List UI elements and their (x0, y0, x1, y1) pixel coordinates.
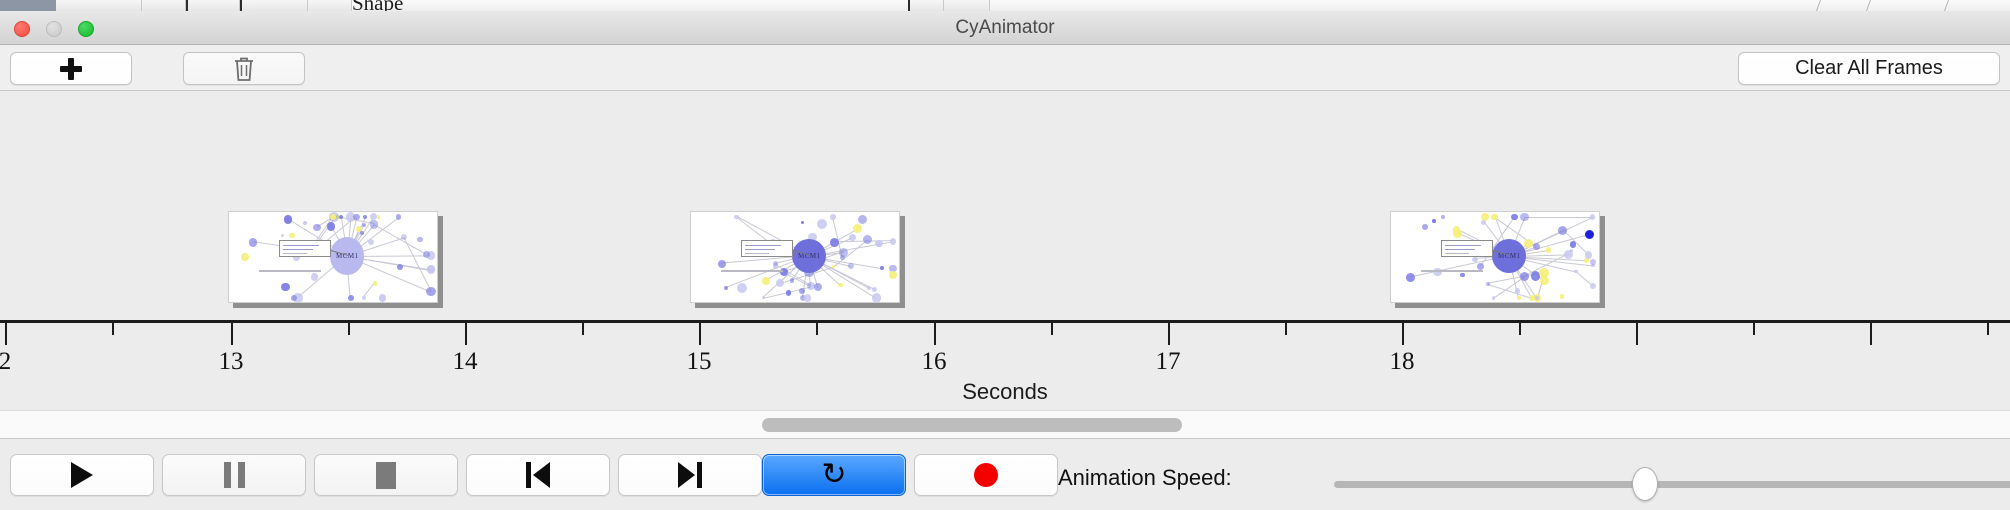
annotation-text-line (283, 245, 319, 246)
graph-node (880, 266, 883, 269)
graph-node (840, 255, 845, 260)
graph-node (281, 234, 285, 238)
trash-icon (232, 55, 256, 83)
graph-node (872, 293, 882, 303)
bg-segment (242, 0, 308, 11)
graph-node (849, 234, 855, 240)
graph-node (1481, 220, 1486, 225)
graph-node (353, 214, 360, 221)
graph-node (362, 223, 366, 227)
axis-minor-tick (816, 323, 818, 335)
bg-segment (142, 0, 186, 11)
bg-segment (944, 0, 990, 11)
axis-tick-label: 13 (219, 348, 244, 376)
graph-node (291, 295, 297, 301)
bg-slash (1866, 0, 1871, 11)
add-frame-button[interactable] (10, 52, 132, 85)
annotation-text-line (745, 253, 769, 254)
axis-major-tick (1168, 323, 1170, 345)
annotation-text-line (745, 249, 775, 250)
graph-node (362, 296, 366, 300)
graph-node (889, 271, 897, 279)
timeline-axis: Seconds 2131415161718 (0, 320, 2010, 410)
timeline-frame-thumbnail[interactable]: MCM1 (228, 211, 443, 307)
annotation-text-line (283, 253, 307, 254)
graph-node (853, 224, 862, 233)
stop-icon (376, 462, 396, 489)
axis-tick-label: 17 (1156, 348, 1181, 376)
toolbar: Clear All Frames (0, 45, 2010, 91)
graph-node (373, 281, 377, 285)
graph-node (241, 253, 249, 261)
graph-node (838, 283, 842, 287)
axis-tick-label: 15 (687, 348, 712, 376)
graph-node (848, 263, 854, 269)
clear-all-frames-button[interactable]: Clear All Frames (1738, 52, 2000, 85)
pause-icon (224, 462, 245, 488)
graph-node (804, 294, 811, 301)
animation-speed-label: Animation Speed: (1058, 465, 1232, 491)
graph-node (1520, 272, 1529, 281)
graph-node (830, 214, 836, 220)
graph-node (817, 219, 827, 229)
timeline-frame-thumbnail[interactable]: MCM1 (690, 211, 905, 307)
network-graph: MCM1 (691, 212, 899, 302)
graph-node (284, 215, 292, 223)
graph-node (762, 277, 770, 285)
graph-node (790, 278, 795, 283)
graph-node (1520, 213, 1529, 222)
graph-node (360, 231, 364, 235)
bg-segment (910, 0, 944, 11)
graph-node (348, 295, 354, 301)
graph-annotation-box (279, 240, 331, 257)
axis-minor-tick (1987, 323, 1989, 335)
graph-node (1585, 251, 1592, 258)
graph-node (801, 221, 804, 224)
play-icon (71, 462, 93, 488)
clear-all-frames-label: Clear All Frames (1795, 57, 1943, 80)
graph-node (807, 282, 815, 290)
graph-node (313, 224, 321, 232)
graph-node (1511, 214, 1518, 221)
plus-icon (60, 58, 82, 80)
axis-major-tick (934, 323, 936, 345)
axis-minor-tick (1519, 323, 1521, 335)
graph-node (1492, 296, 1495, 299)
graph-node (1432, 219, 1436, 223)
graph-annotation-box (1441, 240, 1493, 257)
graph-node (786, 290, 792, 296)
graph-node (1585, 230, 1594, 239)
graph-edge (404, 237, 432, 291)
bg-slash (1944, 0, 1949, 11)
annotation-text-line (283, 249, 313, 250)
graph-node (863, 235, 873, 245)
graph-node (799, 288, 805, 294)
skip-forward-button[interactable] (618, 454, 762, 496)
graph-edge (1524, 217, 1592, 218)
animation-speed-slider-thumb[interactable] (1632, 467, 1658, 501)
axis-tick-label: 18 (1390, 348, 1415, 376)
axis-major-tick (1870, 323, 1872, 345)
play-button[interactable] (10, 454, 154, 496)
loop-button[interactable]: ↻ (762, 454, 906, 496)
graph-node (1558, 226, 1567, 235)
graph-caption-text (721, 270, 783, 272)
graph-node (363, 215, 367, 219)
graph-node (289, 233, 295, 239)
graph-node (1422, 224, 1428, 230)
graph-node (339, 215, 344, 220)
timeline-track[interactable]: MCM1MCM1MCM1 (0, 91, 2010, 320)
loop-icon: ↻ (821, 460, 846, 490)
network-graph-image: MCM1 (228, 211, 438, 303)
graph-node (1560, 294, 1564, 298)
axis-major-tick (5, 323, 7, 345)
axis-major-tick (1636, 323, 1638, 345)
axis-minor-tick (1753, 323, 1755, 335)
axis-tick-label: 16 (922, 348, 947, 376)
graph-node (762, 296, 765, 299)
skip-forward-icon (678, 462, 702, 488)
graph-node (427, 266, 435, 274)
graph-node (1590, 259, 1596, 265)
horizontal-scrollbar-track[interactable] (0, 410, 2010, 438)
stop-button[interactable] (314, 454, 458, 496)
player-control-bar: ↻ Animation Speed: (0, 438, 2010, 510)
graph-node (1517, 296, 1520, 299)
graph-node (379, 294, 386, 301)
graph-node (1406, 273, 1415, 282)
graph-caption-text (259, 270, 321, 272)
axis-minor-tick (582, 323, 584, 335)
record-button[interactable] (914, 454, 1058, 496)
graph-node (1590, 214, 1596, 220)
graph-node (830, 238, 839, 247)
animation-speed-slider-track[interactable] (1334, 481, 2010, 488)
horizontal-scrollbar-thumb[interactable] (762, 418, 1182, 432)
bg-segment (188, 0, 240, 11)
skip-backward-button[interactable] (466, 454, 610, 496)
graph-node (858, 215, 867, 224)
graph-node (832, 265, 835, 268)
graph-node (890, 238, 897, 245)
annotation-text-line (745, 245, 781, 246)
axis-tick-label: 14 (453, 348, 478, 376)
graph-node (1539, 268, 1549, 278)
graph-node (1460, 273, 1464, 277)
graph-node (1472, 257, 1478, 263)
graph-node (718, 260, 726, 268)
network-graph-image: MCM1 (690, 211, 900, 303)
network-graph: MCM1 (1391, 212, 1599, 302)
graph-node (814, 283, 822, 291)
graph-node (396, 214, 401, 219)
graph-node (1590, 283, 1596, 289)
graph-node (773, 261, 778, 266)
graph-node (1453, 226, 1460, 233)
axis-minor-tick (1051, 323, 1053, 335)
graph-node (776, 279, 784, 287)
network-graph-image: MCM1 (1390, 211, 1600, 303)
window-title-bar: CyAnimator (0, 11, 2010, 45)
graph-node (1570, 241, 1577, 248)
pause-button[interactable] (162, 454, 306, 496)
graph-node (370, 220, 378, 228)
axis-title: Seconds (0, 379, 2010, 405)
graph-node (1546, 247, 1551, 252)
bg-segment (308, 0, 352, 11)
graph-node (1574, 270, 1578, 274)
graph-caption-text (1421, 270, 1483, 272)
bg-slash (1816, 0, 1821, 11)
graph-node (875, 240, 882, 247)
axis-minor-tick (348, 323, 350, 335)
axis-major-tick (1402, 323, 1404, 345)
annotation-text-line (1445, 249, 1475, 250)
axis-minor-tick (1285, 323, 1287, 335)
delete-frame-button[interactable] (183, 52, 305, 85)
graph-node (377, 215, 380, 218)
graph-node (249, 238, 258, 247)
graph-node (1441, 215, 1444, 218)
graph-node (417, 237, 423, 243)
graph-node (867, 286, 871, 290)
graph-annotation-box (741, 240, 793, 257)
network-graph: MCM1 (229, 212, 437, 302)
window-title: CyAnimator (0, 11, 2010, 45)
graph-node (1533, 243, 1540, 250)
graph-node (311, 273, 319, 281)
graph-node (872, 287, 877, 292)
bg-segment (56, 0, 142, 11)
bg-dark-segment (0, 0, 56, 11)
bg-window-shape-label: Shape (352, 0, 403, 11)
graph-node (281, 283, 289, 291)
background-window-strip: Shape (0, 0, 2010, 11)
graph-node (368, 239, 374, 245)
graph-node (1515, 288, 1521, 294)
graph-node (426, 287, 436, 297)
axis-major-tick (231, 323, 233, 345)
axis-minor-tick (112, 323, 114, 335)
annotation-text-line (1445, 245, 1481, 246)
timeline-frame-thumbnail[interactable]: MCM1 (1390, 211, 1605, 307)
axis-baseline (0, 320, 2010, 323)
skip-backward-icon (526, 462, 550, 488)
graph-node (737, 283, 747, 293)
annotation-text-line (1445, 253, 1469, 254)
graph-node (303, 221, 307, 225)
graph-node (327, 222, 335, 230)
axis-tick-label: 2 (0, 348, 11, 376)
graph-node (1570, 249, 1574, 253)
record-icon (974, 463, 998, 487)
graph-node (724, 286, 728, 290)
axis-major-tick (699, 323, 701, 345)
graph-node (1477, 263, 1484, 270)
graph-node (397, 264, 403, 270)
axis-major-tick (465, 323, 467, 345)
